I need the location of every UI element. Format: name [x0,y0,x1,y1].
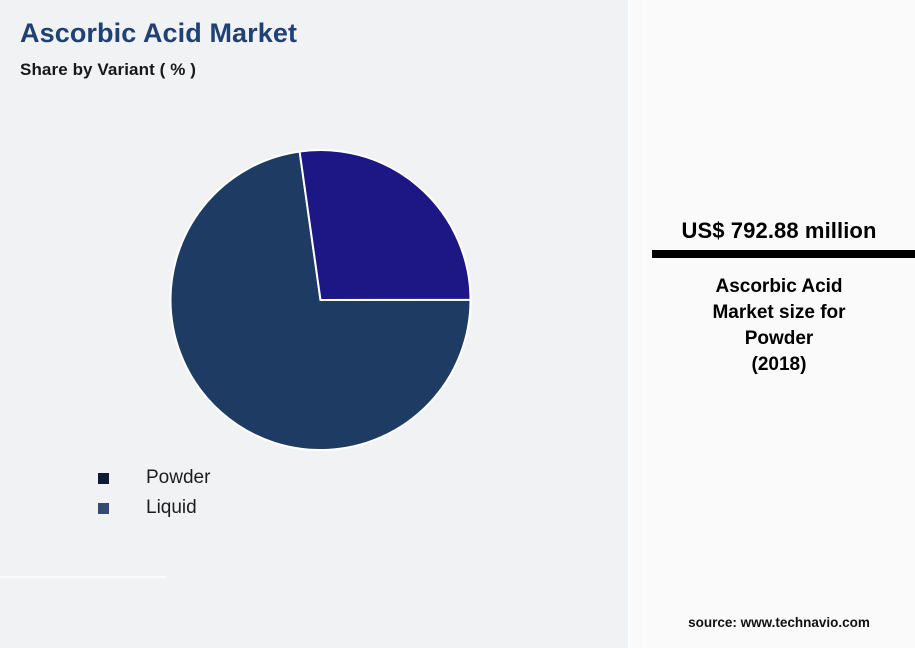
callout-description: Ascorbic Acid Market size for Powder (20… [649,274,909,378]
legend-item-label: Liquid [146,497,197,519]
callout-divider [652,250,915,258]
pie-slice-liquid[interactable] [300,150,471,300]
callout-value: US$ 792.88 million [641,218,915,244]
pie-chart-svg [0,0,628,648]
pie-slices [171,150,471,450]
pie-chart [0,0,628,648]
callout-description-line: (2018) [649,352,909,378]
legend-swatch-icon [98,473,109,484]
side-panel: US$ 792.88 million Ascorbic Acid Market … [628,0,915,648]
baseline-rule [0,576,166,578]
legend-swatch-icon [98,503,109,514]
callout-description-line: Market size for [649,300,909,326]
legend-item-liquid[interactable]: Liquid [98,493,210,523]
chart-legend: Powder Liquid [98,463,210,523]
legend-item-powder[interactable]: Powder [98,463,210,493]
chart-canvas: US$ 792.88 million Ascorbic Acid Market … [0,0,915,648]
side-panel-inner: US$ 792.88 million Ascorbic Acid Market … [640,0,915,648]
callout-description-line: Powder [649,326,909,352]
legend-item-label: Powder [146,467,210,489]
source-note: source: www.technavio.com [641,615,915,630]
callout-description-line: Ascorbic Acid [649,274,909,300]
